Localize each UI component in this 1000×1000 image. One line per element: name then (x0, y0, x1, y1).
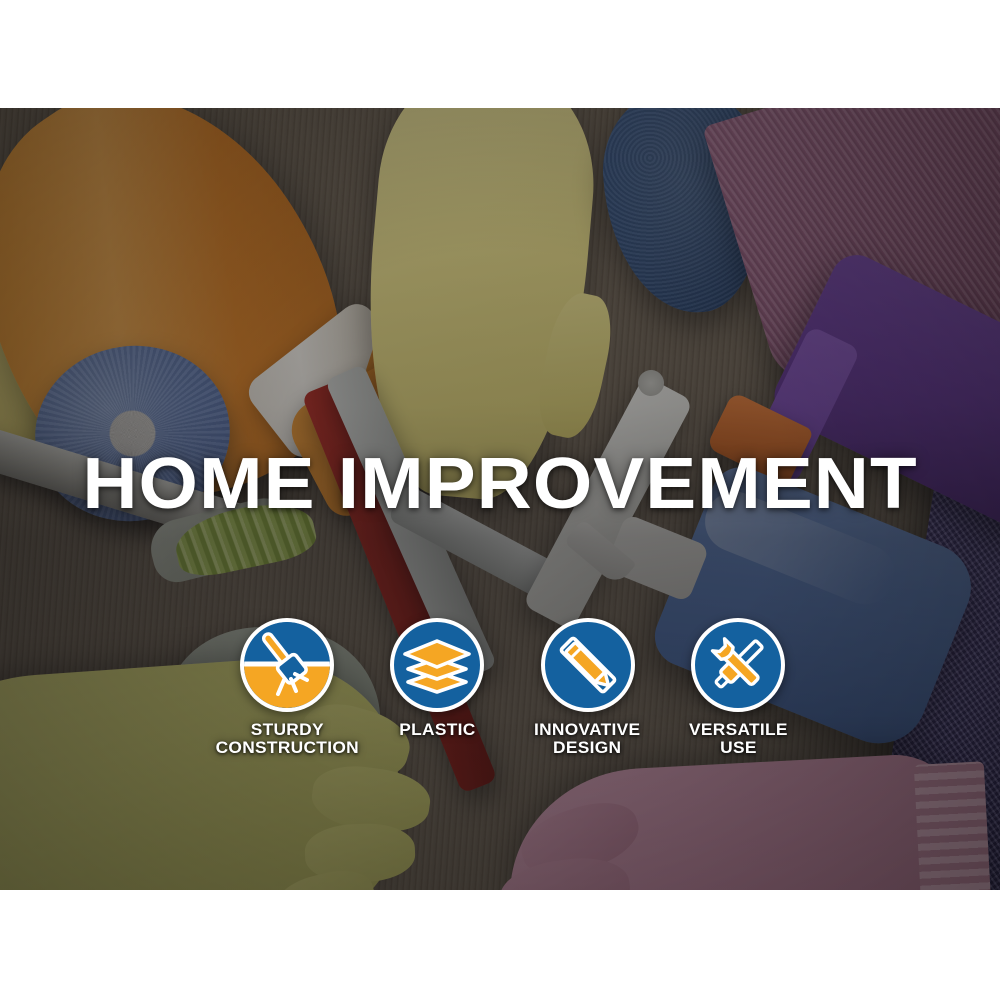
feature-label: VERSATILE USE (689, 721, 788, 757)
screwdriver-wrench-icon (700, 627, 776, 703)
versatile-use-badge[interactable] (691, 618, 785, 712)
pink-glove-cuff (914, 761, 996, 890)
plastic-badge[interactable] (390, 618, 484, 712)
feature-label: INNOVATIVE DESIGN (534, 721, 640, 757)
feature-label: PLASTIC (399, 721, 475, 739)
broom-scrub-icon (244, 622, 330, 708)
sturdy-construction-badge[interactable] (240, 618, 334, 712)
feature-plastic[interactable]: PLASTIC (375, 618, 499, 739)
page-title: HOME IMPROVEMENT (0, 448, 1000, 520)
product-banner: HOME IMPROVEMENT (0, 0, 1000, 1000)
feature-innovative-design[interactable]: INNOVATIVE DESIGN (526, 618, 650, 757)
ruler-pencil-icon (551, 628, 625, 702)
innovative-design-badge[interactable] (541, 618, 635, 712)
stacked-layers-icon (400, 628, 474, 702)
feature-versatile-use[interactable]: VERSATILE USE (676, 618, 800, 757)
feature-label: STURDY CONSTRUCTION (215, 721, 358, 757)
feature-list: STURDY CONSTRUCTION PLASTIC (225, 618, 800, 757)
feature-sturdy-construction[interactable]: STURDY CONSTRUCTION (225, 618, 349, 757)
